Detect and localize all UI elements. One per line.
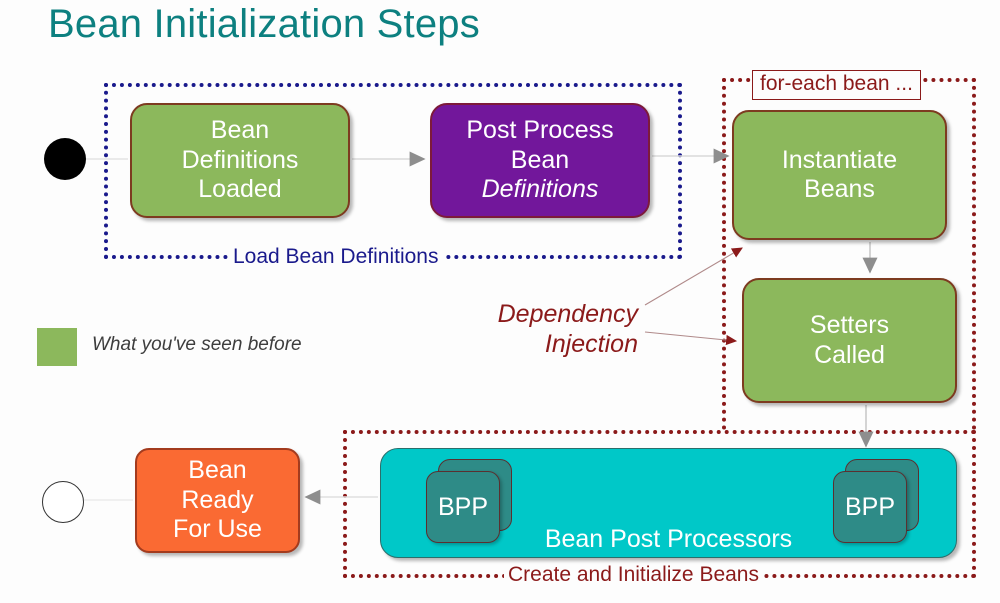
node-line: For Use <box>173 515 262 545</box>
node-line: Called <box>814 341 885 371</box>
node-instantiate-beans[interactable]: Instantiate Beans <box>732 110 947 240</box>
annotation-line-1: Dependency <box>498 300 638 328</box>
annotation-line-2: Injection <box>545 330 638 358</box>
group-label-create-and-initialize-beans: Create and Initialize Beans <box>504 563 763 587</box>
node-line: Ready <box>181 486 253 516</box>
legend-label: What you've seen before <box>92 334 302 356</box>
node-line: Definitions <box>182 146 299 176</box>
end-state-node <box>42 481 84 523</box>
node-setters-called[interactable]: Setters Called <box>742 278 957 403</box>
legend-color-swatch <box>37 328 77 366</box>
slide-canvas: Bean Initialization Steps Load Bean Defi… <box>0 0 1000 603</box>
node-line: Bean <box>511 146 569 176</box>
node-line: Instantiate <box>782 146 897 176</box>
bean-post-processors-label: Bean Post Processors <box>381 525 956 554</box>
node-line: Setters <box>810 311 889 341</box>
node-line: Bean <box>211 116 269 146</box>
annotation-dependency-injection: Dependency Injection <box>478 300 638 359</box>
page-title: Bean Initialization Steps <box>48 2 480 47</box>
node-bean-definitions-loaded[interactable]: Bean Definitions Loaded <box>130 103 350 218</box>
node-post-process-bean-definitions[interactable]: Post Process Bean Definitions <box>430 103 650 218</box>
node-line-emphasis: Definitions <box>482 175 599 205</box>
start-state-node <box>44 138 86 180</box>
node-line: Bean <box>188 456 246 486</box>
node-bean-ready-for-use[interactable]: Bean Ready For Use <box>135 448 300 553</box>
node-line: Loaded <box>198 175 281 205</box>
node-line: Post Process <box>466 116 613 146</box>
group-badge-for-each-bean: for-each bean ... <box>752 70 921 100</box>
node-bean-post-processors-container[interactable]: BPP Initializer BPP Bean Post Processors <box>380 448 957 558</box>
node-line: Beans <box>804 175 875 205</box>
group-label-load-bean-definitions: Load Bean Definitions <box>228 245 443 269</box>
